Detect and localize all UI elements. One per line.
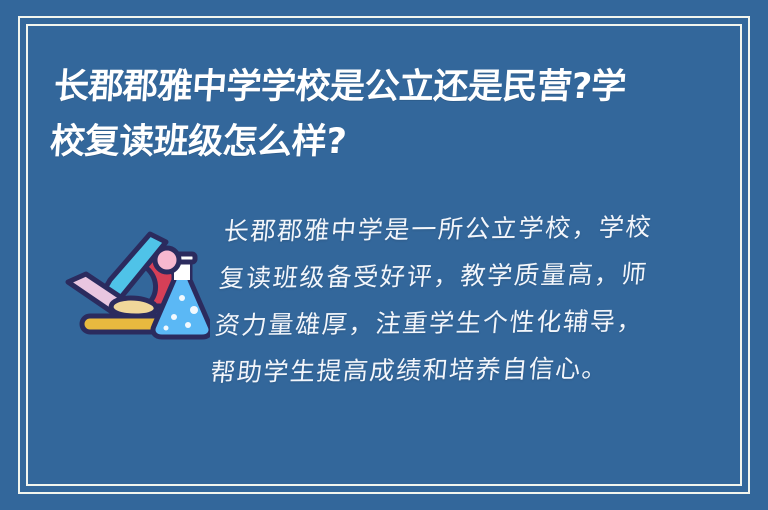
card-body-text: 长郡郡雅中学是一所公立学校，学校复读班级备受好评，教学质量高，师资力量雄厚，注重…: [208, 204, 654, 396]
microscope-stage-shape: [111, 298, 156, 316]
microscope-and-flask-icon: [62, 218, 210, 344]
info-card: 长郡郡雅中学学校是公立还是民营?学校复读班级怎么样?: [0, 0, 768, 510]
card-headline: 长郡郡雅中学学校是公立还是民营?学校复读班级怎么样?: [48, 60, 656, 170]
microscope-lens-knob-shape: [155, 248, 179, 272]
